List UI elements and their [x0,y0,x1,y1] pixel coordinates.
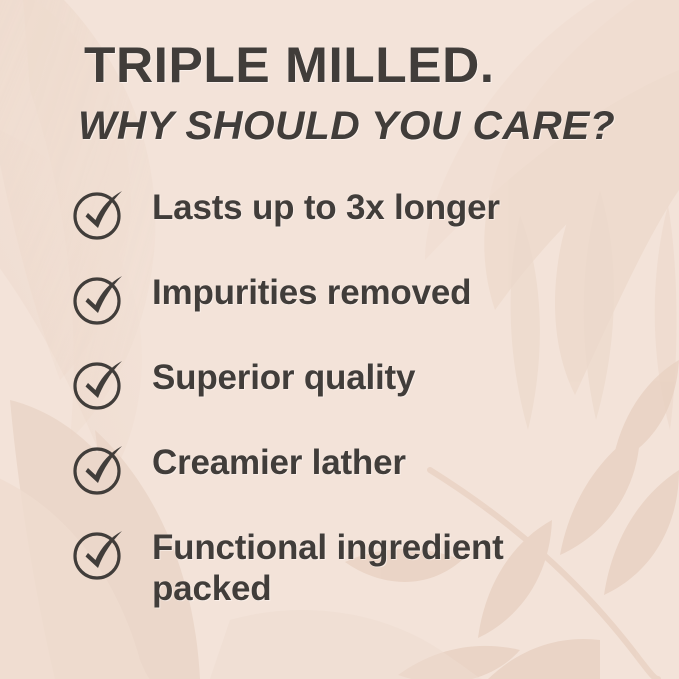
list-item-label: Impurities removed [130,273,652,314]
list-item-label: Lasts up to 3x longer [130,188,652,229]
list-item-label: Superior quality [130,358,652,399]
list-item: Lasts up to 3x longer [72,186,652,271]
page-subtitle: WHY SHOULD YOU CARE? [78,105,655,147]
header-block: TRIPLE MILLED. WHY SHOULD YOU CARE? [84,40,644,147]
page-title: TRIPLE MILLED. [84,40,661,91]
triple-milled-benefits-poster: TRIPLE MILLED. WHY SHOULD YOU CARE? Last… [0,0,679,679]
list-item-label: Creamier lather [130,443,652,484]
list-item-label-line2: packed [152,569,652,610]
check-circle-icon [72,273,130,329]
check-circle-icon [72,528,130,584]
benefits-list: Lasts up to 3x longer Impurities removed [72,186,652,611]
list-item-label: Functional ingredient packed [130,528,652,609]
list-item: Impurities removed [72,271,652,356]
list-item: Superior quality [72,356,652,441]
list-item: Functional ingredient packed [72,526,652,611]
check-circle-icon [72,443,130,499]
check-circle-icon [72,188,130,244]
check-circle-icon [72,358,130,414]
list-item: Creamier lather [72,441,652,526]
